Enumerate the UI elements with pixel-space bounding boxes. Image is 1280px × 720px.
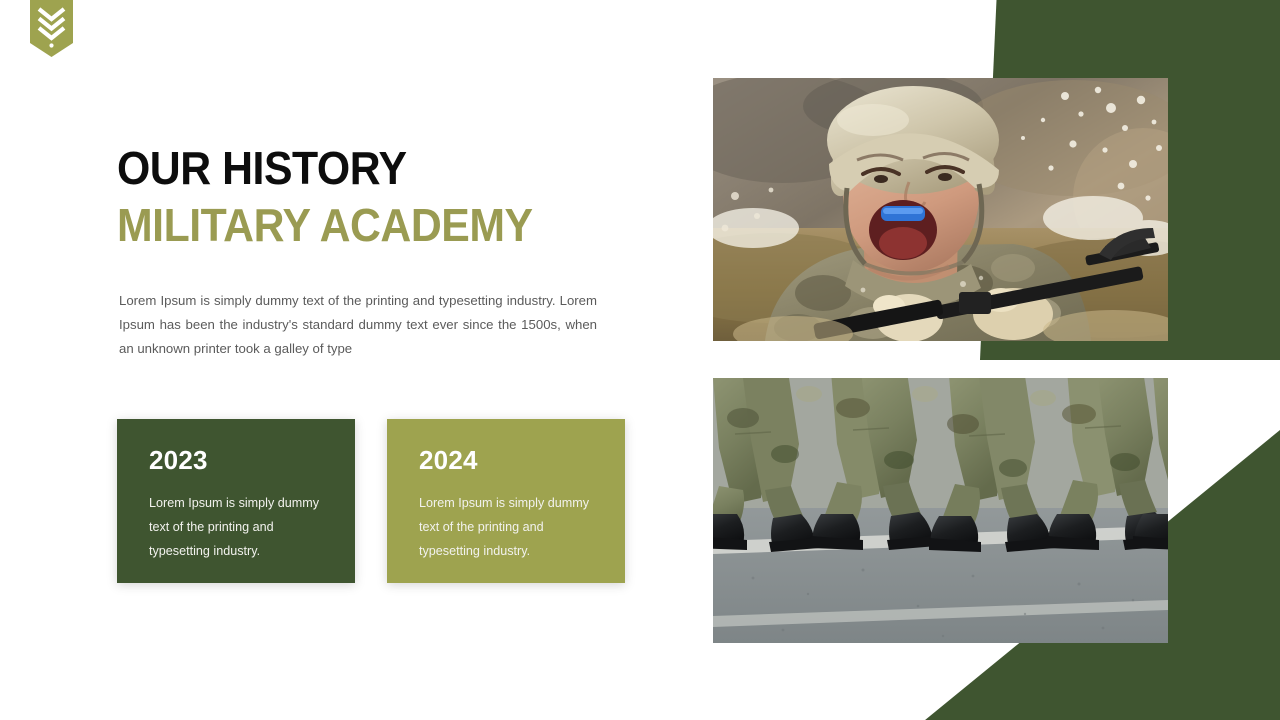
year-card-title: 2023 xyxy=(149,445,325,475)
year-card-text: Lorem Ipsum is simply dummy text of the … xyxy=(419,491,595,563)
year-card-text: Lorem Ipsum is simply dummy text of the … xyxy=(149,491,325,563)
year-card-2024[interactable]: 2024 Lorem Ipsum is simply dummy text of… xyxy=(387,419,625,583)
title-line-accent: MILITARY ACADEMY xyxy=(117,196,601,254)
soldier-crawling-in-water-photo xyxy=(713,78,1168,341)
body-paragraph: Lorem Ipsum is simply dummy text of the … xyxy=(119,289,597,361)
text-content-column: OUR HISTORY MILITARY ACADEMY Lorem Ipsum… xyxy=(117,140,637,361)
page-title: OUR HISTORY MILITARY ACADEMY xyxy=(117,140,637,254)
title-line-primary: OUR HISTORY xyxy=(117,140,601,196)
slide-canvas: OUR HISTORY MILITARY ACADEMY Lorem Ipsum… xyxy=(0,0,1280,720)
year-cards-group: 2023 Lorem Ipsum is simply dummy text of… xyxy=(117,419,625,583)
rank-chevron-badge-icon xyxy=(30,0,73,57)
year-card-title: 2024 xyxy=(419,445,595,475)
marching-soldiers-boots-photo xyxy=(713,378,1168,643)
year-card-2023[interactable]: 2023 Lorem Ipsum is simply dummy text of… xyxy=(117,419,355,583)
